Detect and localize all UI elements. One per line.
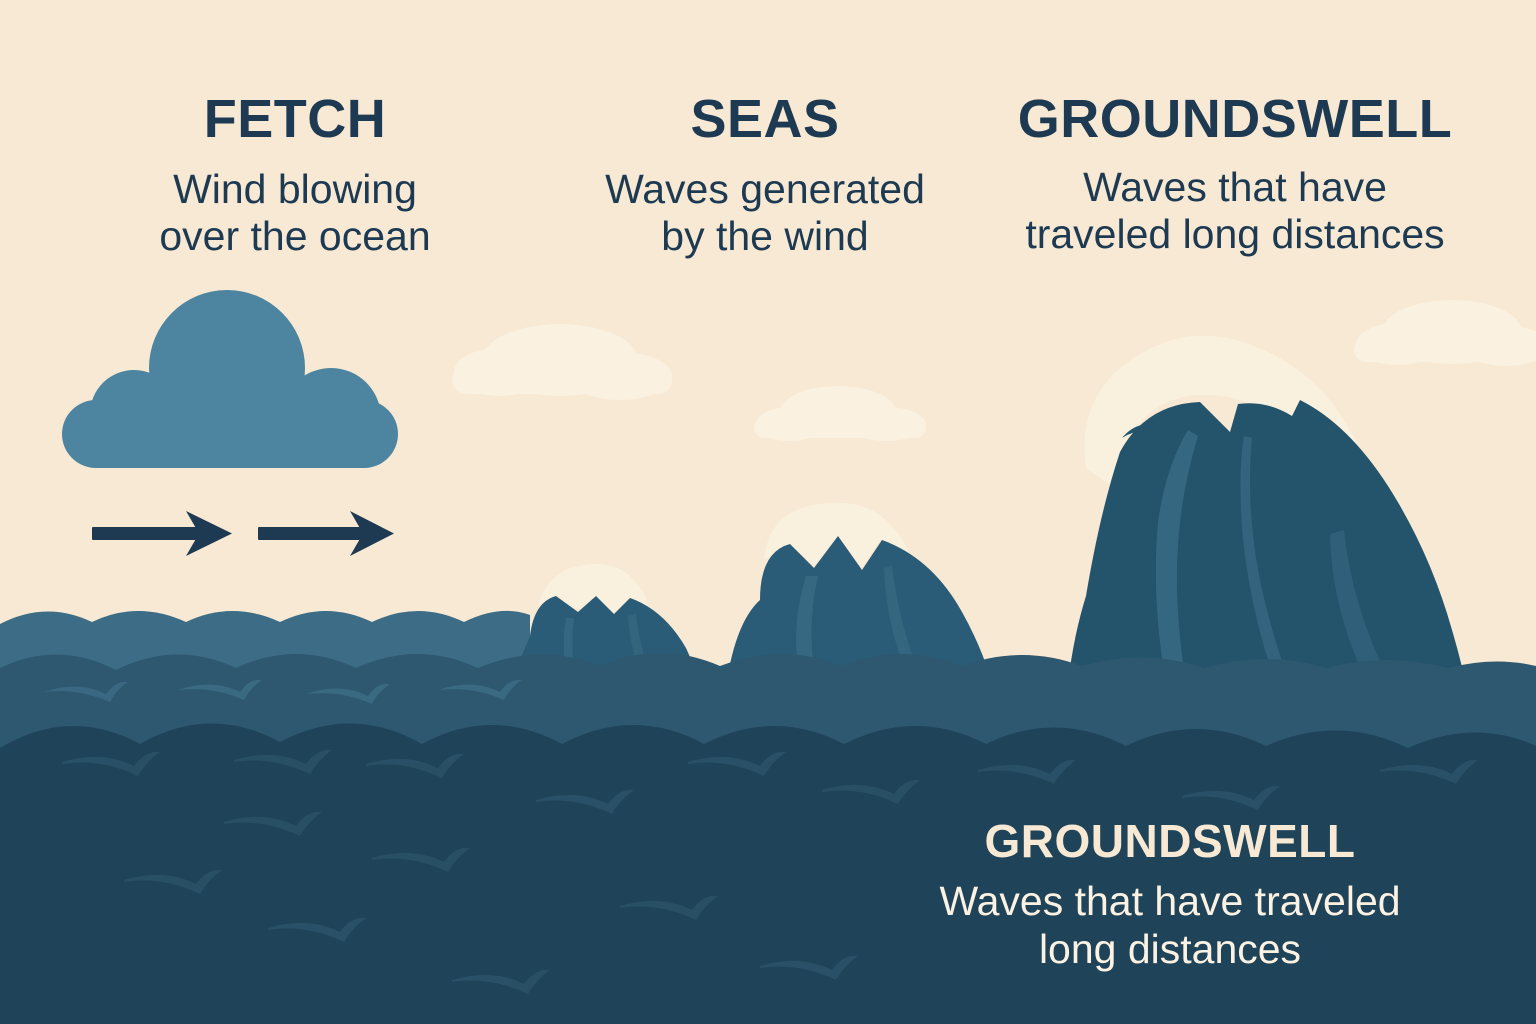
label-fetch-desc-line2: over the ocean: [60, 213, 530, 260]
label-seas-desc-line2: by the wind: [545, 213, 985, 260]
label-seas: SEAS Waves generated by the wind: [545, 92, 985, 259]
label-groundswell-desc-line2: traveled long distances: [950, 211, 1520, 258]
label-seas-description: Waves generated by the wind: [545, 166, 985, 259]
caption-groundswell-desc-line2: long distances: [860, 926, 1480, 974]
label-groundswell: GROUNDSWELL Waves that have traveled lon…: [950, 92, 1520, 257]
caption-groundswell-title: GROUNDSWELL: [860, 818, 1480, 864]
caption-groundswell-desc-line1: Waves that have traveled: [860, 878, 1480, 926]
caption-groundswell: GROUNDSWELL Waves that have traveled lon…: [860, 818, 1480, 973]
label-seas-title: SEAS: [545, 92, 985, 146]
caption-groundswell-description: Waves that have traveled long distances: [860, 878, 1480, 973]
label-groundswell-desc-line1: Waves that have: [950, 164, 1520, 211]
label-fetch-desc-line1: Wind blowing: [60, 166, 530, 213]
label-groundswell-title: GROUNDSWELL: [950, 92, 1520, 146]
label-fetch-description: Wind blowing over the ocean: [60, 166, 530, 259]
label-seas-desc-line1: Waves generated: [545, 166, 985, 213]
infographic-canvas: FETCH Wind blowing over the ocean SEAS W…: [0, 0, 1536, 1024]
label-fetch-title: FETCH: [60, 92, 530, 146]
label-groundswell-description: Waves that have traveled long distances: [950, 164, 1520, 257]
label-fetch: FETCH Wind blowing over the ocean: [60, 92, 530, 259]
